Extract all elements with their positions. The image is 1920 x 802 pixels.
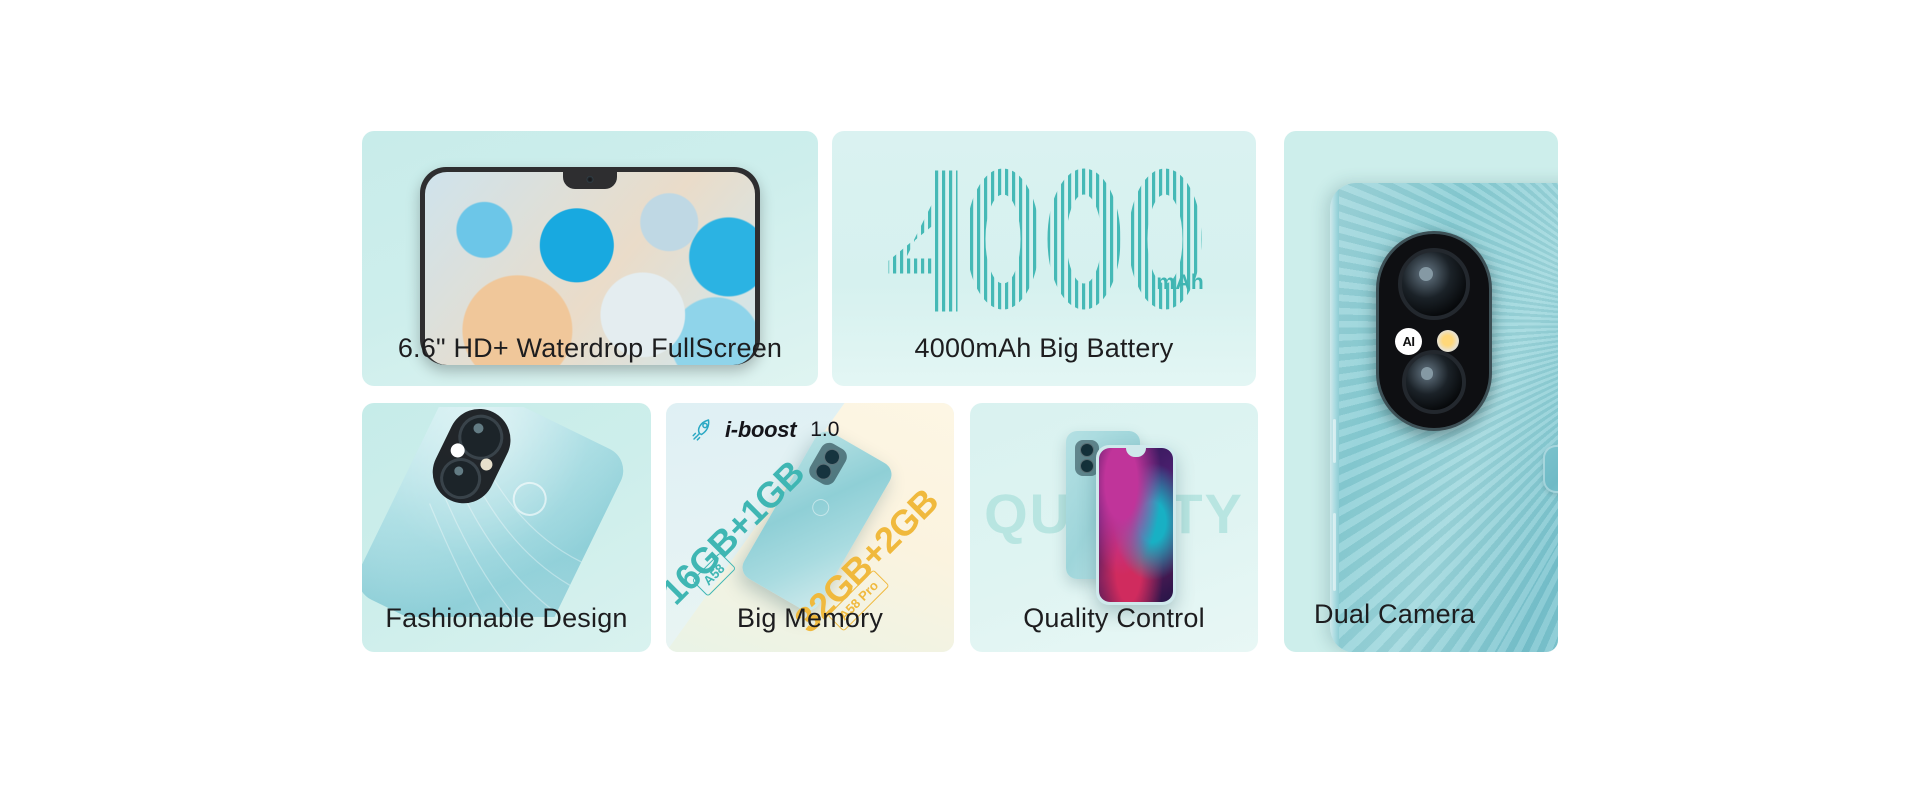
- phone-front-icon: [1096, 445, 1176, 605]
- fingerprint-sensor-icon: [1543, 445, 1558, 493]
- led-flash-icon: [1437, 330, 1459, 352]
- feature-card-fullscreen[interactable]: 6.6" HD+ Waterdrop FullScreen: [362, 131, 818, 386]
- main-lens-icon: [1398, 248, 1470, 320]
- feature-card-quality[interactable]: QUALITY Quality Control: [970, 403, 1258, 652]
- camera-module-icon: AI: [1376, 231, 1492, 431]
- feature-label-quality: Quality Control: [970, 603, 1258, 634]
- feature-card-memory[interactable]: i-boost 1.0 16GB+1GB A58 32GB+2GB A58 Pr…: [666, 403, 954, 652]
- feature-label-design: Fashionable Design: [362, 603, 651, 634]
- iboost-name: i-boost: [725, 417, 796, 443]
- iboost-badge: i-boost 1.0: [690, 417, 839, 443]
- feature-label-memory: Big Memory: [666, 603, 954, 634]
- feature-label-battery: 4000mAh Big Battery: [832, 333, 1256, 364]
- feature-label-fullscreen: 6.6" HD+ Waterdrop FullScreen: [362, 333, 818, 364]
- feature-card-camera[interactable]: AI Dual Camera: [1284, 131, 1558, 652]
- secondary-lens-icon: [1402, 350, 1466, 414]
- feature-grid: 6.6" HD+ Waterdrop FullScreen: [0, 0, 1920, 802]
- ai-badge: AI: [1395, 328, 1422, 355]
- feature-card-battery[interactable]: mAh 4000mAh Big Battery: [832, 131, 1256, 386]
- rocket-icon: [690, 417, 716, 443]
- feature-label-camera: Dual Camera: [1314, 599, 1475, 630]
- phone-back-angled-icon: [362, 407, 651, 617]
- waterdrop-notch-icon: [563, 172, 617, 189]
- battery-unit-label: mAh: [1156, 271, 1204, 295]
- phone-back-camera-closeup-icon: AI: [1330, 183, 1558, 652]
- feature-card-design[interactable]: Fashionable Design: [362, 403, 651, 652]
- iboost-version: 1.0: [810, 418, 839, 442]
